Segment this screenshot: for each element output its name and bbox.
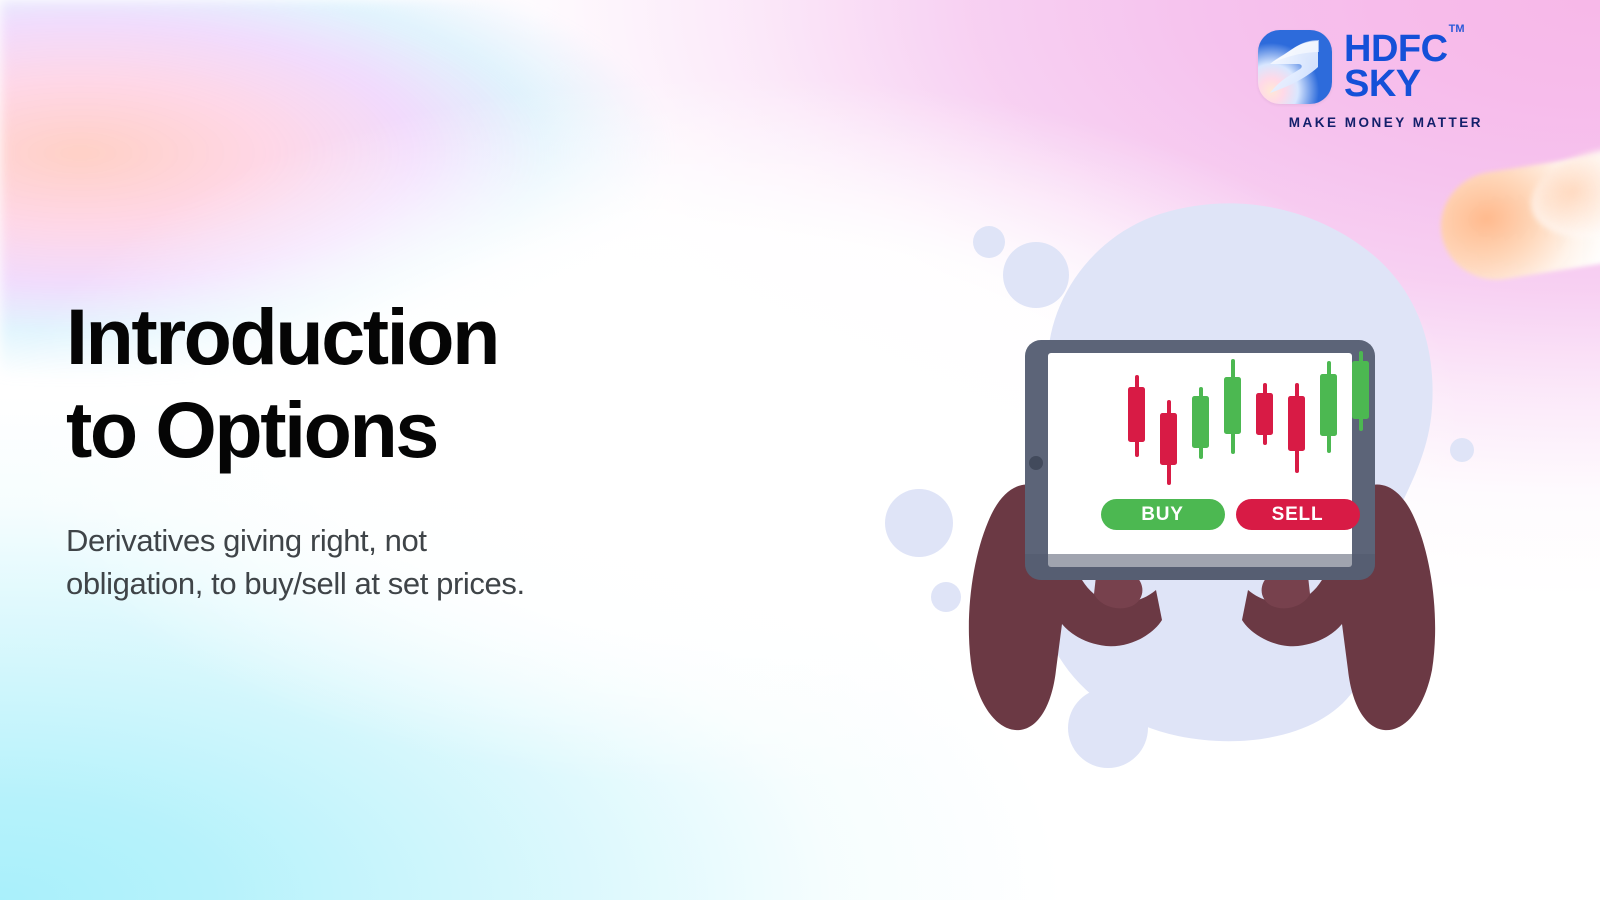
deco-circle bbox=[885, 489, 953, 557]
copy-block: Introduction to Options Derivatives givi… bbox=[66, 290, 726, 606]
slide-canvas: HDFC SKY TM MAKE MONEY MATTER Introducti… bbox=[0, 0, 1600, 900]
trademark-icon: TM bbox=[1449, 24, 1465, 34]
page-title: Introduction to Options bbox=[66, 290, 726, 476]
tablet-screen bbox=[1048, 353, 1352, 567]
deco-circle bbox=[931, 582, 961, 612]
tablet-illustration: BUY SELL bbox=[860, 150, 1540, 790]
brand-tagline: MAKE MONEY MATTER bbox=[1258, 115, 1484, 130]
logo-text-line2: SKY bbox=[1344, 67, 1448, 102]
page-subtitle: Derivatives giving right, not obligation… bbox=[66, 520, 726, 606]
deco-circle bbox=[973, 226, 1005, 258]
brand-logo[interactable]: HDFC SKY TM MAKE MONEY MATTER bbox=[1258, 30, 1484, 140]
deco-circle bbox=[1003, 242, 1069, 308]
hdfc-sky-logo-icon bbox=[1258, 30, 1332, 104]
deco-circle bbox=[1068, 688, 1148, 768]
deco-circle bbox=[1450, 438, 1474, 462]
logo-row: HDFC SKY TM bbox=[1258, 30, 1484, 104]
logo-wordmark: HDFC SKY TM bbox=[1344, 32, 1448, 102]
tablet-camera-icon bbox=[1029, 456, 1043, 470]
